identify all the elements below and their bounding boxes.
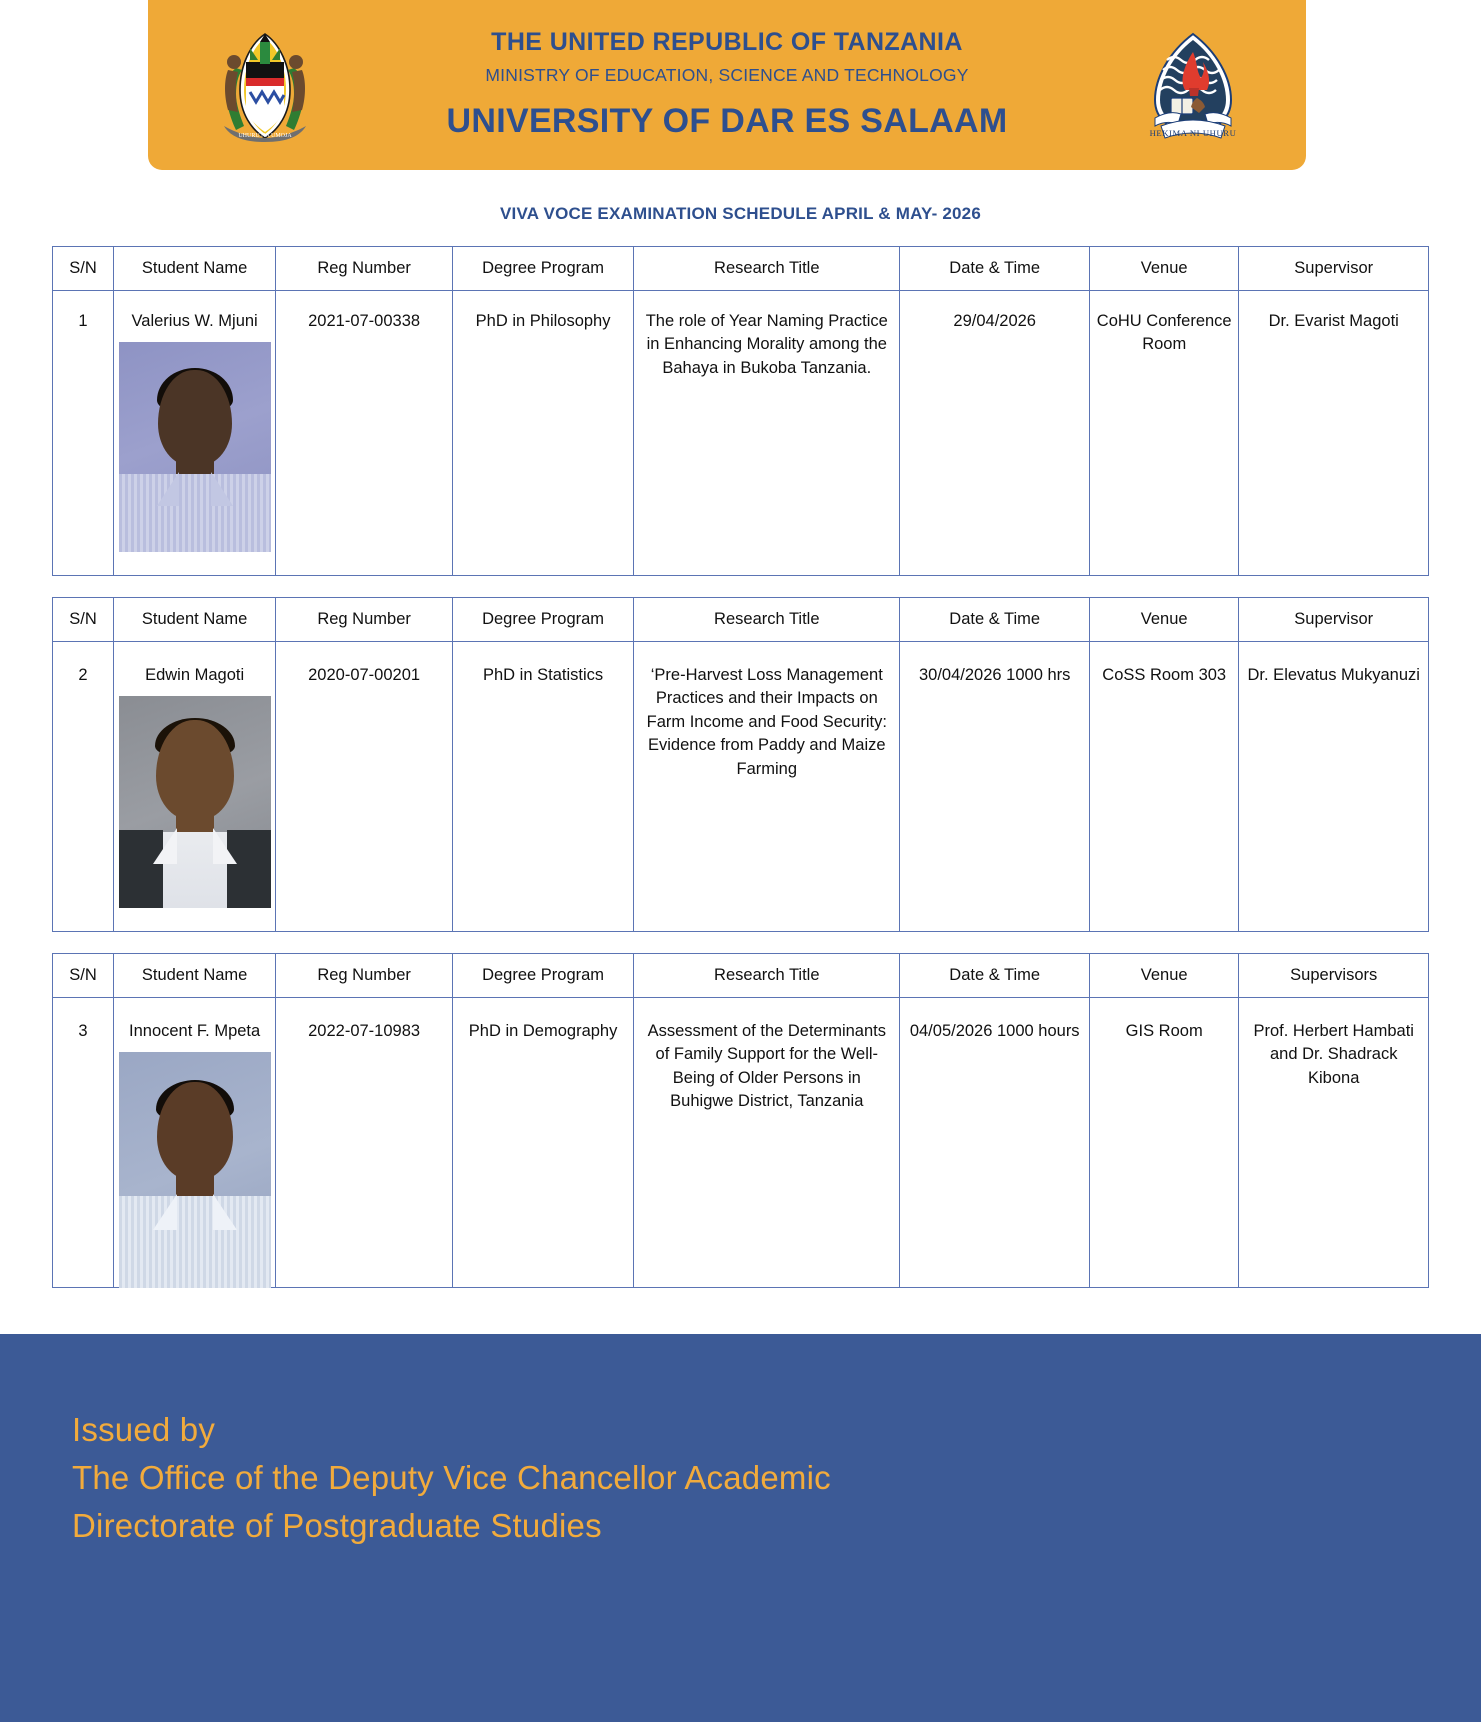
column-header-student-name: Student Name <box>114 247 276 291</box>
cell-research-title: The role of Year Naming Practice in Enha… <box>634 291 900 576</box>
schedule-table-3: S/N Student Name Reg Number Degree Progr… <box>52 953 1429 1288</box>
column-header-research-title: Research Title <box>634 954 900 998</box>
column-header-venue: Venue <box>1089 954 1238 998</box>
column-header-reg-number: Reg Number <box>276 954 453 998</box>
cell-supervisor: Dr. Elevatus Mukyanuzi <box>1239 642 1429 932</box>
column-header-date-time: Date & Time <box>900 598 1090 642</box>
column-header-degree-program: Degree Program <box>453 598 634 642</box>
schedule-table-2: S/N Student Name Reg Number Degree Progr… <box>52 597 1429 932</box>
schedule-table-1: S/N Student Name Reg Number Degree Progr… <box>52 246 1429 576</box>
student-name-text: Valerius W. Mjuni <box>114 291 275 342</box>
table-header-row: S/N Student Name Reg Number Degree Progr… <box>53 247 1429 291</box>
document-footer: Issued by The Office of the Deputy Vice … <box>0 1334 1481 1722</box>
country-title: THE UNITED REPUBLIC OF TANZANIA <box>447 27 1008 58</box>
udsm-crest-icon: HEKIMA NI UHURU <box>1131 26 1256 150</box>
ministry-title: MINISTRY OF EDUCATION, SCIENCE AND TECHN… <box>447 65 1008 87</box>
svg-text:HEKIMA NI UHURU: HEKIMA NI UHURU <box>1150 128 1237 138</box>
cell-venue: GIS Room <box>1089 998 1238 1288</box>
column-header-student-name: Student Name <box>114 598 276 642</box>
tanzania-coat-of-arms-icon: UHURU NA UMOJA <box>210 22 320 146</box>
cell-sn: 2 <box>53 642 114 932</box>
cell-research-title: Assessment of the Determinants of Family… <box>634 998 900 1288</box>
student-name-text: Innocent F. Mpeta <box>114 998 275 1052</box>
student-photo-edwin-magoti <box>119 696 271 908</box>
cell-reg-number: 2022-07-10983 <box>276 998 453 1288</box>
column-header-research-title: Research Title <box>634 598 900 642</box>
schedule-tables: S/N Student Name Reg Number Degree Progr… <box>0 246 1481 1288</box>
footer-directorate: Directorate of Postgraduate Studies <box>72 1502 1481 1550</box>
student-photo-innocent-mpeta <box>119 1052 271 1288</box>
cell-reg-number: 2020-07-00201 <box>276 642 453 932</box>
column-header-venue: Venue <box>1089 598 1238 642</box>
cell-sn: 1 <box>53 291 114 576</box>
cell-research-title: ‘Pre-Harvest Loss Management Practices a… <box>634 642 900 932</box>
svg-text:UHURU NA UMOJA: UHURU NA UMOJA <box>238 133 292 139</box>
cell-student-name: Valerius W. Mjuni <box>114 291 276 576</box>
cell-venue: CoSS Room 303 <box>1089 642 1238 932</box>
cell-sn: 3 <box>53 998 114 1288</box>
column-header-date-time: Date & Time <box>900 247 1090 291</box>
table-row: 2 Edwin Magoti 2020-07-00 <box>53 642 1429 932</box>
student-name-text: Edwin Magoti <box>114 642 275 696</box>
footer-office: The Office of the Deputy Vice Chancellor… <box>72 1454 1481 1502</box>
table-row: 1 Valerius W. Mjuni 2021-07-00338 PhD in… <box>53 291 1429 576</box>
cell-supervisor: Dr. Evarist Magoti <box>1239 291 1429 576</box>
cell-degree-program: PhD in Statistics <box>453 642 634 932</box>
table-header-row: S/N Student Name Reg Number Degree Progr… <box>53 954 1429 998</box>
cell-student-name: Innocent F. Mpeta <box>114 998 276 1288</box>
column-header-reg-number: Reg Number <box>276 598 453 642</box>
column-header-supervisor: Supervisor <box>1239 247 1429 291</box>
student-photo-valerius-mjuni <box>119 342 271 552</box>
cell-student-name: Edwin Magoti <box>114 642 276 932</box>
header-title-block: THE UNITED REPUBLIC OF TANZANIA MINISTRY… <box>447 27 1008 143</box>
cell-date-time: 30/04/2026 1000 hrs <box>900 642 1090 932</box>
footer-issued-by: Issued by <box>72 1406 1481 1454</box>
column-header-venue: Venue <box>1089 247 1238 291</box>
cell-supervisor: Prof. Herbert Hambati and Dr. Shadrack K… <box>1239 998 1429 1288</box>
column-header-degree-program: Degree Program <box>453 954 634 998</box>
column-header-student-name: Student Name <box>114 954 276 998</box>
column-header-reg-number: Reg Number <box>276 247 453 291</box>
column-header-supervisors: Supervisors <box>1239 954 1429 998</box>
table-header-row: S/N Student Name Reg Number Degree Progr… <box>53 598 1429 642</box>
cell-degree-program: PhD in Philosophy <box>453 291 634 576</box>
column-header-degree-program: Degree Program <box>453 247 634 291</box>
cell-date-time: 04/05/2026 1000 hours <box>900 998 1090 1288</box>
column-header-sn: S/N <box>53 598 114 642</box>
column-header-research-title: Research Title <box>634 247 900 291</box>
cell-reg-number: 2021-07-00338 <box>276 291 453 576</box>
column-header-date-time: Date & Time <box>900 954 1090 998</box>
university-title: UNIVERSITY OF DAR ES SALAAM <box>447 100 1008 143</box>
column-header-sn: S/N <box>53 247 114 291</box>
document-header-banner: UHURU NA UMOJA THE UNITED REPUBLIC OF TA… <box>148 0 1306 170</box>
cell-degree-program: PhD in Demography <box>453 998 634 1288</box>
document-subtitle: VIVA VOCE EXAMINATION SCHEDULE APRIL & M… <box>0 204 1481 224</box>
column-header-supervisor: Supervisor <box>1239 598 1429 642</box>
cell-date-time: 29/04/2026 <box>900 291 1090 576</box>
cell-venue: CoHU Conference Room <box>1089 291 1238 576</box>
column-header-sn: S/N <box>53 954 114 998</box>
table-row: 3 Innocent F. Mpeta 2022-07-10983 PhD in… <box>53 998 1429 1288</box>
